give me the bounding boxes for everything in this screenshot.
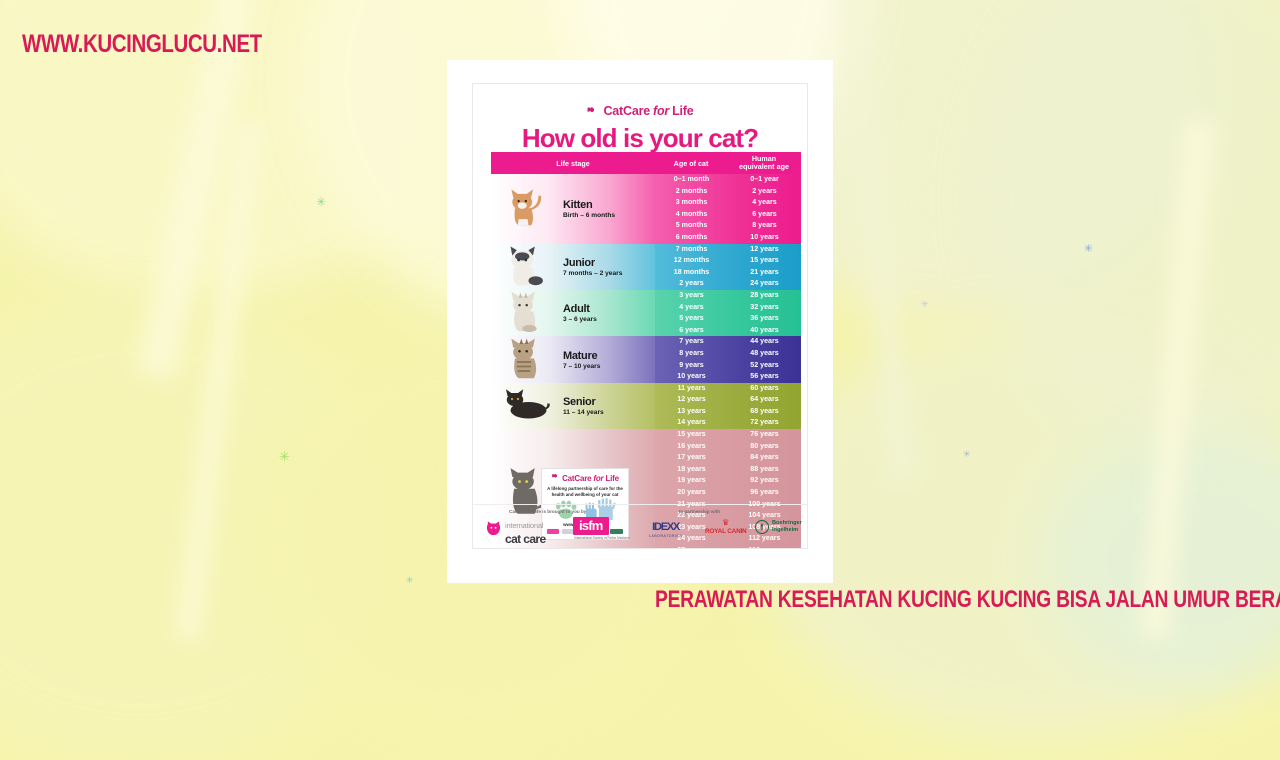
human-equivalent-column: 60 years64 years68 years72 years bbox=[728, 383, 801, 429]
age-of-cat-value: 4 years bbox=[655, 302, 728, 314]
human-equivalent-value: 21 years bbox=[728, 267, 801, 279]
poster-footer: CatCareforLife is brought to you by In p… bbox=[473, 504, 807, 548]
human-header-line2: equivalent age bbox=[727, 163, 801, 171]
badge-brand-for: for bbox=[593, 474, 603, 483]
badge-brand-cat-care: CatCare bbox=[562, 474, 591, 483]
sparkle-icon: ✳ bbox=[1084, 244, 1093, 255]
age-of-cat-value: 12 years bbox=[655, 394, 728, 406]
icc-wordmark: international cat care bbox=[505, 516, 546, 545]
age-of-cat-value: 17 years bbox=[655, 452, 728, 464]
cream-adult-cat-photo bbox=[497, 287, 557, 339]
idexx-logo: IDEXX LABORATORIES bbox=[649, 521, 682, 538]
age-of-cat-column: 7 months12 months18 months2 years bbox=[655, 244, 728, 290]
life-stage-range: 7 months – 2 years bbox=[563, 270, 622, 277]
human-equivalent-value: 15 years bbox=[728, 255, 801, 267]
age-of-cat-value: 18 months bbox=[655, 267, 728, 279]
age-of-cat-value: 3 years bbox=[655, 290, 728, 302]
human-equivalent-value: 64 years bbox=[728, 394, 801, 406]
life-stage-name: Kitten bbox=[563, 199, 615, 211]
age-of-cat-value: 2 years bbox=[655, 278, 728, 290]
footer-brought-by-text: CatCareforLife is brought to you by bbox=[509, 509, 586, 514]
sparkle-icon: ✳ bbox=[406, 576, 414, 585]
cat-head-icon bbox=[485, 520, 502, 542]
age-of-cat-column: 0–1 month2 months3 months4 months5 month… bbox=[655, 174, 728, 244]
human-equivalent-value: 88 years bbox=[728, 464, 801, 476]
isfm-subtitle: International Society of Feline Medicine bbox=[573, 536, 631, 540]
human-equivalent-value: 40 years bbox=[728, 325, 801, 337]
brand-cat-care: CatCare bbox=[603, 104, 650, 118]
age-of-cat-value: 19 years bbox=[655, 475, 728, 487]
age-values-cell: 0–1 month2 months3 months4 months5 month… bbox=[655, 174, 801, 244]
catcare-heart-icon bbox=[551, 473, 560, 484]
human-equivalent-value: 24 years bbox=[728, 278, 801, 290]
age-values-cell: 7 months12 months18 months2 years12 year… bbox=[655, 244, 801, 290]
idexx-wordmark: IDEXX bbox=[649, 521, 682, 533]
age-of-cat-value: 7 months bbox=[655, 244, 728, 256]
age-of-cat-value: 9 years bbox=[655, 360, 728, 372]
human-equivalent-value: 4 years bbox=[728, 197, 801, 209]
column-header-human-equivalent-age: Human equivalent age bbox=[727, 155, 801, 172]
human-equivalent-value: 76 years bbox=[728, 429, 801, 441]
boehringer-emblem-icon bbox=[755, 520, 769, 534]
boehringer-line2: Ingelheim bbox=[772, 527, 798, 533]
human-equivalent-value: 72 years bbox=[728, 417, 801, 429]
ragdoll-junior-photo bbox=[497, 241, 557, 293]
age-of-cat-column: 11 years12 years13 years14 years bbox=[655, 383, 728, 429]
sparkle-icon: ✳ bbox=[279, 450, 290, 463]
life-stage-cell: Mature7 – 10 years bbox=[491, 336, 655, 382]
crown-icon: ♛ bbox=[705, 519, 746, 527]
sparkle-icon: ✳ bbox=[921, 300, 929, 309]
poster-card: CatCareforLife How old is your cat? Life… bbox=[447, 60, 833, 583]
page-title: How old is your cat? bbox=[473, 123, 807, 154]
human-equivalent-value: 96 years bbox=[728, 487, 801, 499]
boehringer-line1: Boehringer bbox=[772, 520, 802, 526]
age-of-cat-value: 20 years bbox=[655, 487, 728, 499]
table-body: KittenBirth – 6 months0–1 month2 months3… bbox=[491, 174, 801, 549]
human-equivalent-value: 44 years bbox=[728, 336, 801, 348]
human-equivalent-value: 80 years bbox=[728, 441, 801, 453]
age-of-cat-value: 7 years bbox=[655, 336, 728, 348]
human-equivalent-value: 56 years bbox=[728, 371, 801, 383]
age-of-cat-value: 12 months bbox=[655, 255, 728, 267]
life-stage-band: Junior7 months – 2 years7 months12 month… bbox=[491, 244, 801, 290]
age-of-cat-value: 14 years bbox=[655, 417, 728, 429]
idexx-subtitle: LABORATORIES bbox=[649, 534, 682, 538]
human-equivalent-value: 68 years bbox=[728, 406, 801, 418]
age-of-cat-value: 4 months bbox=[655, 209, 728, 221]
ginger-kitten-photo bbox=[497, 183, 557, 235]
article-caption: PERAWATAN KESEHATAN KUCING KUCING BISA J… bbox=[655, 586, 1280, 614]
life-stage-name: Senior bbox=[563, 396, 604, 408]
human-equivalent-column: 28 years32 years36 years40 years bbox=[728, 290, 801, 336]
human-equivalent-column: 44 years48 years52 years56 years bbox=[728, 336, 801, 382]
life-stage-text: Mature7 – 10 years bbox=[563, 350, 600, 370]
age-of-cat-column: 7 years8 years9 years10 years bbox=[655, 336, 728, 382]
human-equivalent-value: 32 years bbox=[728, 302, 801, 314]
age-of-cat-value: 18 years bbox=[655, 464, 728, 476]
royal-canin-logo: ♛ ROYAL CANIN bbox=[705, 519, 746, 535]
human-equivalent-value: 92 years bbox=[728, 475, 801, 487]
life-stage-text: Adult3 – 6 years bbox=[563, 303, 597, 323]
life-stage-text: KittenBirth – 6 months bbox=[563, 199, 615, 219]
royal-canin-wordmark: ROYAL CANIN bbox=[705, 528, 746, 535]
brand-life: Life bbox=[672, 104, 693, 118]
age-of-cat-value: 3 months bbox=[655, 197, 728, 209]
life-stage-range: 3 – 6 years bbox=[563, 316, 597, 323]
site-watermark: WWW.KUCINGLUCU.NET bbox=[22, 30, 262, 59]
human-equivalent-value: 6 years bbox=[728, 209, 801, 221]
life-stage-name: Mature bbox=[563, 350, 600, 362]
human-equivalent-value: 2 years bbox=[728, 186, 801, 198]
column-header-age-of-cat: Age of cat bbox=[655, 159, 727, 168]
human-equivalent-value: 84 years bbox=[728, 452, 801, 464]
age-of-cat-value: 8 years bbox=[655, 348, 728, 360]
age-of-cat-value: 16 years bbox=[655, 441, 728, 453]
poster-brand: CatCareforLife bbox=[473, 104, 807, 118]
life-stage-text: Junior7 months – 2 years bbox=[563, 257, 622, 277]
boehringer-wordmark: Boehringer Ingelheim bbox=[772, 520, 802, 533]
life-stage-band: KittenBirth – 6 months0–1 month2 months3… bbox=[491, 174, 801, 244]
life-stage-cell: Junior7 months – 2 years bbox=[491, 244, 655, 290]
age-of-cat-value: 2 months bbox=[655, 186, 728, 198]
column-header-life-stage: Life stage bbox=[491, 159, 655, 168]
icc-line2: cat care bbox=[505, 533, 546, 545]
age-of-cat-value: 6 months bbox=[655, 232, 728, 244]
human-equivalent-column: 0–1 year2 years4 years6 years8 years10 y… bbox=[728, 174, 801, 244]
boehringer-ingelheim-logo: Boehringer Ingelheim bbox=[755, 520, 802, 534]
icc-line1: international bbox=[505, 521, 543, 530]
life-stage-band: Senior11 – 14 years11 years12 years13 ye… bbox=[491, 383, 801, 429]
age-of-cat-column: 3 years4 years5 years6 years bbox=[655, 290, 728, 336]
age-values-cell: 3 years4 years5 years6 years28 years32 y… bbox=[655, 290, 801, 336]
black-longhair-senior-cat-photo bbox=[497, 385, 557, 426]
age-values-cell: 11 years12 years13 years14 years60 years… bbox=[655, 383, 801, 429]
age-of-cat-value: 6 years bbox=[655, 325, 728, 337]
age-of-cat-value: 11 years bbox=[655, 383, 728, 395]
badge-brand: CatCareforLife bbox=[545, 473, 625, 484]
life-stage-text: Senior11 – 14 years bbox=[563, 396, 604, 416]
life-stage-cell: Adult3 – 6 years bbox=[491, 290, 655, 336]
sparkle-icon: ✳ bbox=[963, 450, 971, 459]
age-table: Life stage Age of cat Human equivalent a… bbox=[491, 152, 801, 549]
human-equivalent-value: 0–1 year bbox=[728, 174, 801, 186]
age-of-cat-value: 5 years bbox=[655, 313, 728, 325]
human-equivalent-value: 48 years bbox=[728, 348, 801, 360]
screenshot-root: ✳✳✳✳✳✳✳✳✳✳✳ WWW.KUCINGLUCU.NET PERAWATAN… bbox=[0, 0, 1280, 640]
age-of-cat-value: 13 years bbox=[655, 406, 728, 418]
life-stage-cell: Senior11 – 14 years bbox=[491, 383, 655, 429]
life-stage-range: 7 – 10 years bbox=[563, 363, 600, 370]
human-equivalent-column: 12 years15 years21 years24 years bbox=[728, 244, 801, 290]
life-stage-name: Adult bbox=[563, 303, 597, 315]
badge-brand-life: Life bbox=[605, 474, 618, 483]
human-equivalent-value: 12 years bbox=[728, 244, 801, 256]
catcare-heart-icon bbox=[586, 106, 598, 118]
age-of-cat-value: 15 years bbox=[655, 429, 728, 441]
age-of-cat-value: 0–1 month bbox=[655, 174, 728, 186]
footer-partnership-text: In partnership with bbox=[679, 509, 720, 514]
age-values-cell: 7 years8 years9 years10 years44 years48 … bbox=[655, 336, 801, 382]
life-stage-range: 11 – 14 years bbox=[563, 409, 604, 416]
life-stage-cell: KittenBirth – 6 months bbox=[491, 174, 655, 244]
brand-for: for bbox=[653, 104, 669, 118]
life-stage-name: Junior bbox=[563, 257, 622, 269]
human-equivalent-value: 10 years bbox=[728, 232, 801, 244]
sparkle-icon: ✳ bbox=[316, 196, 326, 208]
human-equivalent-value: 36 years bbox=[728, 313, 801, 325]
life-stage-band: Mature7 – 10 years7 years8 years9 years1… bbox=[491, 336, 801, 382]
human-equivalent-value: 52 years bbox=[728, 360, 801, 372]
tabby-mature-cat-photo bbox=[497, 334, 557, 386]
life-stage-range: Birth – 6 months bbox=[563, 212, 615, 219]
human-equivalent-value: 60 years bbox=[728, 383, 801, 395]
international-cat-care-logo: international cat care bbox=[485, 516, 546, 545]
human-equivalent-value: 28 years bbox=[728, 290, 801, 302]
life-stage-band: Adult3 – 6 years3 years4 years5 years6 y… bbox=[491, 290, 801, 336]
age-of-cat-value: 5 months bbox=[655, 220, 728, 232]
badge-tagline: A lifelong partnership of care for the h… bbox=[545, 486, 625, 497]
table-header-row: Life stage Age of cat Human equivalent a… bbox=[491, 152, 801, 174]
isfm-logo: isfm bbox=[573, 517, 609, 535]
poster-inner: CatCareforLife How old is your cat? Life… bbox=[472, 83, 808, 549]
age-of-cat-value: 10 years bbox=[655, 371, 728, 383]
human-equivalent-value: 8 years bbox=[728, 220, 801, 232]
